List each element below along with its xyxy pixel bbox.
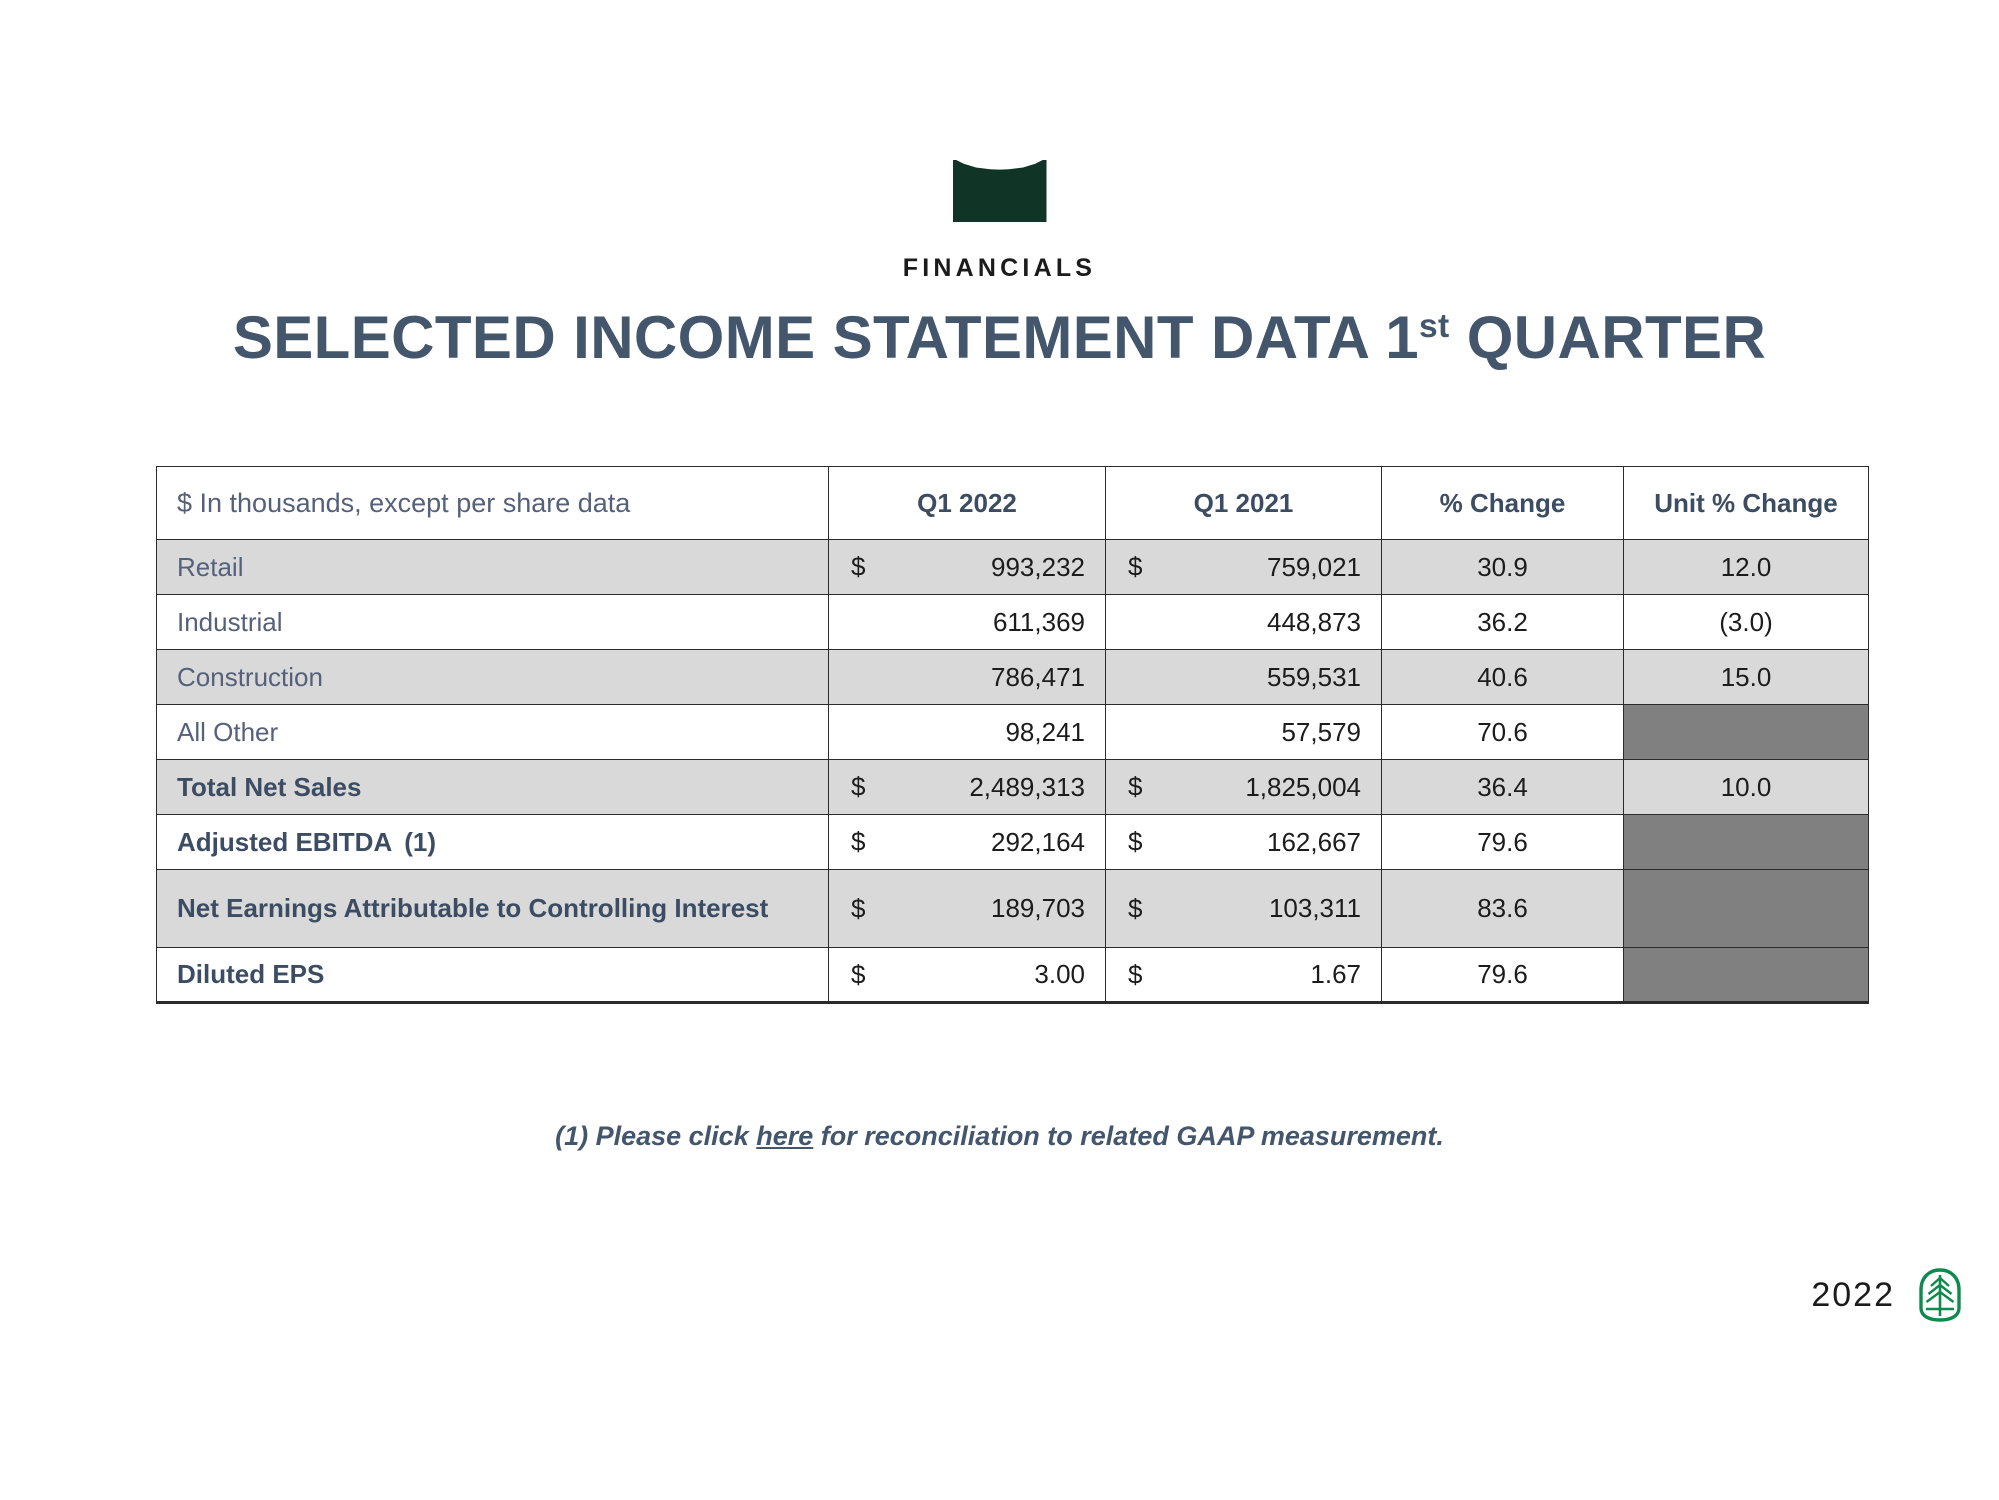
cell-value: 559,531 xyxy=(1267,662,1361,692)
currency-symbol: $ xyxy=(1128,827,1142,858)
table-row: Adjusted EBITDA(1)$292,164$162,66779.6 xyxy=(157,815,1869,870)
cell-pct-change: 79.6 xyxy=(1382,948,1624,1003)
currency-symbol: $ xyxy=(851,959,865,990)
footer-year: 2022 xyxy=(1811,1276,1895,1315)
currency-symbol: $ xyxy=(1128,552,1142,583)
cell-value: 993,232 xyxy=(991,552,1085,582)
cell-value: 759,021 xyxy=(1267,552,1361,582)
cell-value: 162,667 xyxy=(1267,827,1361,857)
cell-q1-2022: 786,471 xyxy=(829,650,1106,705)
row-label: Adjusted EBITDA(1) xyxy=(157,815,829,870)
slide-footer: 2022 xyxy=(1811,1268,1963,1322)
cell-pct-change: 79.6 xyxy=(1382,815,1624,870)
table-row: Retail$993,232$759,02130.912.0 xyxy=(157,540,1869,595)
income-statement-table: $ In thousands, except per share data Q1… xyxy=(156,466,1869,1004)
cell-q1-2022: $3.00 xyxy=(829,948,1106,1003)
column-header-pct-change: % Change xyxy=(1382,467,1624,540)
table-header-row: $ In thousands, except per share data Q1… xyxy=(157,467,1869,540)
cell-q1-2021: 448,873 xyxy=(1106,595,1382,650)
table-row: Industrial611,369448,87336.2(3.0) xyxy=(157,595,1869,650)
table-body: Retail$993,232$759,02130.912.0Industrial… xyxy=(157,540,1869,1003)
column-header-unit-pct-change: Unit % Change xyxy=(1624,467,1869,540)
table-row: All Other98,24157,57970.6 xyxy=(157,705,1869,760)
cell-q1-2022: 611,369 xyxy=(829,595,1106,650)
cell-q1-2021: $1.67 xyxy=(1106,948,1382,1003)
cell-q1-2022: 98,241 xyxy=(829,705,1106,760)
cell-value: 292,164 xyxy=(991,827,1085,857)
cell-q1-2022: $993,232 xyxy=(829,540,1106,595)
footnote-link[interactable]: here xyxy=(756,1121,813,1151)
cell-value: 1,825,004 xyxy=(1245,772,1361,802)
column-header-q1-2021: Q1 2021 xyxy=(1106,467,1382,540)
cell-unit-pct-change: (3.0) xyxy=(1624,595,1869,650)
row-label: Retail xyxy=(157,540,829,595)
cell-value: 611,369 xyxy=(993,607,1085,637)
currency-symbol: $ xyxy=(1128,893,1142,924)
cell-value: 786,471 xyxy=(991,662,1085,692)
table-row: Diluted EPS$3.00$1.6779.6 xyxy=(157,948,1869,1003)
page-title-superscript: st xyxy=(1419,308,1450,345)
cell-q1-2021: $162,667 xyxy=(1106,815,1382,870)
cell-pct-change: 70.6 xyxy=(1382,705,1624,760)
cell-value: 57,579 xyxy=(1281,717,1361,747)
cell-unit-pct-change: 12.0 xyxy=(1624,540,1869,595)
table-row: Net Earnings Attributable to Controlling… xyxy=(157,870,1869,948)
cell-pct-change: 36.4 xyxy=(1382,760,1624,815)
page-title: SELECTED INCOME STATEMENT DATA 1st QUART… xyxy=(0,303,1999,372)
column-header-label: $ In thousands, except per share data xyxy=(157,467,829,540)
footnote: (1) Please click here for reconciliation… xyxy=(0,1121,1999,1152)
cell-pct-change: 83.6 xyxy=(1382,870,1624,948)
currency-symbol: $ xyxy=(851,893,865,924)
cell-unit-pct-blocked xyxy=(1624,870,1869,948)
financial-table-container: $ In thousands, except per share data Q1… xyxy=(156,466,1868,1004)
slide-header: FINANCIALS SELECTED INCOME STATEMENT DAT… xyxy=(0,0,1999,372)
currency-symbol: $ xyxy=(1128,959,1142,990)
cell-q1-2021: 57,579 xyxy=(1106,705,1382,760)
cell-q1-2022: $189,703 xyxy=(829,870,1106,948)
cell-value: 103,311 xyxy=(1269,893,1361,923)
currency-symbol: $ xyxy=(1128,772,1142,803)
cell-value: 189,703 xyxy=(991,893,1085,923)
cell-value: 1.67 xyxy=(1310,959,1361,989)
row-label: Net Earnings Attributable to Controlling… xyxy=(157,870,829,948)
brand-mark-icon xyxy=(953,160,1047,222)
cell-value: 3.00 xyxy=(1034,959,1085,989)
column-header-q1-2022: Q1 2022 xyxy=(829,467,1106,540)
table-row: Total Net Sales$2,489,313$1,825,00436.41… xyxy=(157,760,1869,815)
cell-q1-2021: $103,311 xyxy=(1106,870,1382,948)
cell-q1-2021: $1,825,004 xyxy=(1106,760,1382,815)
row-label: Construction xyxy=(157,650,829,705)
row-label: Total Net Sales xyxy=(157,760,829,815)
row-footnote-ref: (1) xyxy=(404,827,436,857)
eyebrow-label: FINANCIALS xyxy=(0,254,1999,283)
footnote-suffix: for reconciliation to related GAAP measu… xyxy=(813,1121,1444,1151)
row-label: Diluted EPS xyxy=(157,948,829,1003)
cell-unit-pct-change: 15.0 xyxy=(1624,650,1869,705)
cell-unit-pct-blocked xyxy=(1624,815,1869,870)
currency-symbol: $ xyxy=(851,552,865,583)
cell-pct-change: 30.9 xyxy=(1382,540,1624,595)
cell-unit-pct-blocked xyxy=(1624,705,1869,760)
cell-q1-2021: 559,531 xyxy=(1106,650,1382,705)
cell-value: 2,489,313 xyxy=(969,772,1085,802)
cell-pct-change: 36.2 xyxy=(1382,595,1624,650)
page-title-tail: QUARTER xyxy=(1450,304,1767,371)
cell-value: 98,241 xyxy=(1005,717,1085,747)
cell-q1-2022: $292,164 xyxy=(829,815,1106,870)
cell-q1-2021: $759,021 xyxy=(1106,540,1382,595)
cell-pct-change: 40.6 xyxy=(1382,650,1624,705)
cell-q1-2022: $2,489,313 xyxy=(829,760,1106,815)
currency-symbol: $ xyxy=(851,772,865,803)
currency-symbol: $ xyxy=(851,827,865,858)
page-title-main: SELECTED INCOME STATEMENT DATA 1 xyxy=(233,304,1419,371)
row-label: Industrial xyxy=(157,595,829,650)
cell-unit-pct-change: 10.0 xyxy=(1624,760,1869,815)
row-label: All Other xyxy=(157,705,829,760)
footnote-prefix: (1) Please click xyxy=(555,1121,756,1151)
table-row: Construction786,471559,53140.615.0 xyxy=(157,650,1869,705)
cell-value: 448,873 xyxy=(1267,607,1361,637)
cell-unit-pct-blocked xyxy=(1624,948,1869,1003)
tree-logo-icon xyxy=(1917,1268,1963,1322)
